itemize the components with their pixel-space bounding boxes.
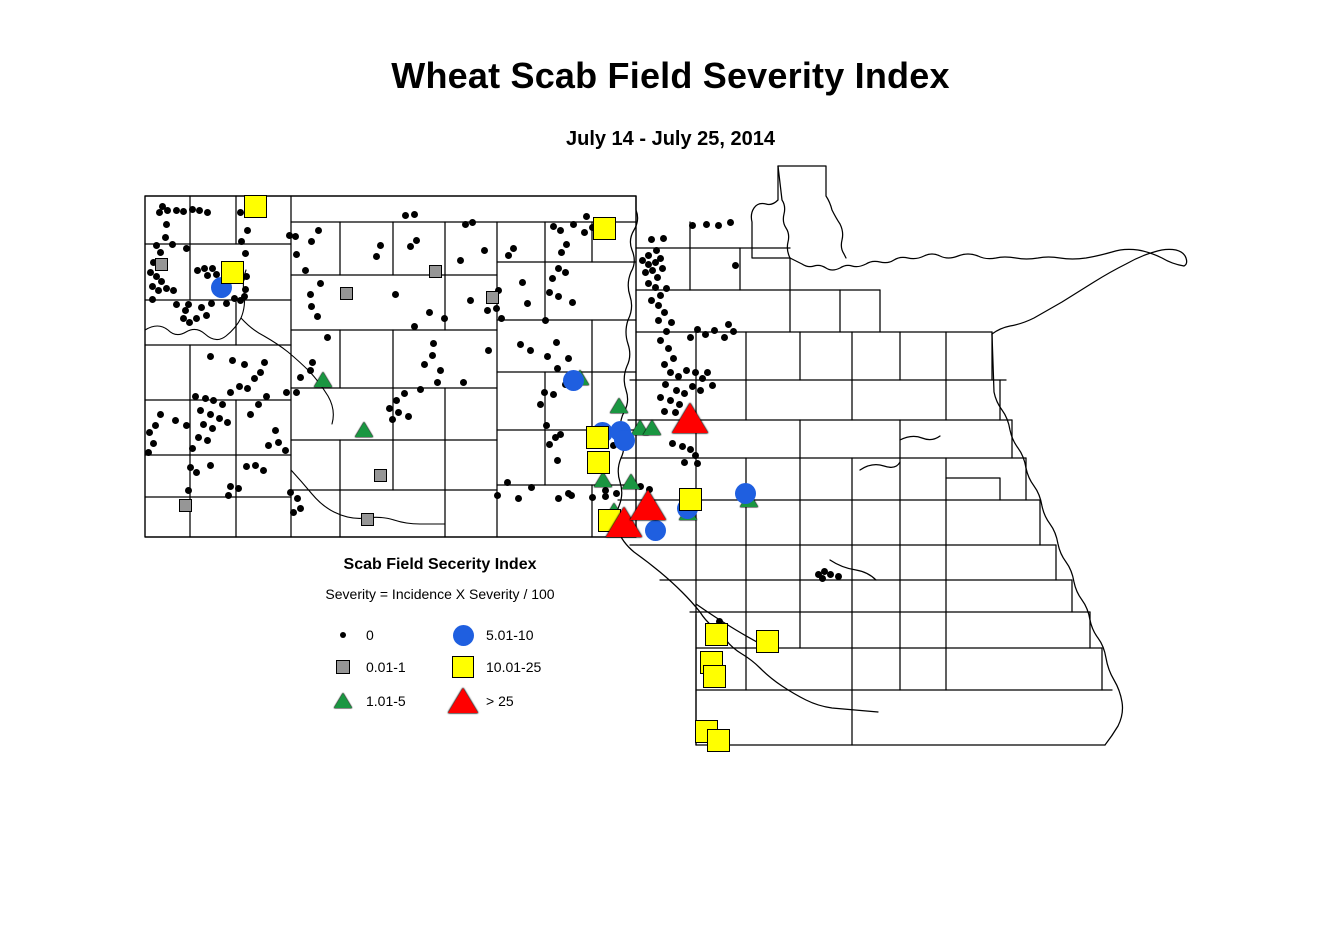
severity-0-dot bbox=[527, 347, 534, 354]
severity-0-dot bbox=[552, 434, 559, 441]
severity-0-dot bbox=[204, 209, 211, 216]
severity-0-dot bbox=[555, 265, 562, 272]
severity-0-dot bbox=[709, 382, 716, 389]
severity-0-dot bbox=[389, 416, 396, 423]
severity-0p01-1-square bbox=[486, 291, 499, 304]
severity-0p01-1-square bbox=[361, 513, 374, 526]
severity-0-dot bbox=[158, 278, 165, 285]
severity-0-dot bbox=[434, 379, 441, 386]
severity-0-dot bbox=[283, 389, 290, 396]
severity-0-dot bbox=[411, 211, 418, 218]
severity-0-dot bbox=[670, 355, 677, 362]
severity-0-dot bbox=[715, 222, 722, 229]
severity-0-dot bbox=[237, 209, 244, 216]
severity-0-dot bbox=[210, 397, 217, 404]
severity-0-dot bbox=[170, 287, 177, 294]
severity-0-dot bbox=[193, 315, 200, 322]
severity-0-dot bbox=[504, 479, 511, 486]
severity-over-25-triangle bbox=[630, 490, 666, 520]
severity-5p01-10-circle bbox=[645, 520, 666, 541]
severity-0-dot bbox=[655, 317, 662, 324]
severity-0-dot bbox=[681, 390, 688, 397]
severity-0-dot bbox=[201, 265, 208, 272]
severity-0p01-1-square bbox=[429, 265, 442, 278]
severity-0-dot bbox=[393, 397, 400, 404]
severity-0-dot bbox=[702, 331, 709, 338]
severity-0-dot bbox=[244, 385, 251, 392]
severity-0-dot bbox=[657, 292, 664, 299]
severity-0-dot bbox=[665, 345, 672, 352]
severity-0-dot bbox=[159, 203, 166, 210]
severity-0-dot bbox=[704, 369, 711, 376]
severity-0-dot bbox=[207, 411, 214, 418]
severity-0-dot bbox=[613, 490, 620, 497]
severity-0-dot bbox=[236, 383, 243, 390]
severity-0-dot bbox=[437, 367, 444, 374]
severity-1p01-5-triangle bbox=[622, 474, 640, 489]
severity-0-dot bbox=[402, 212, 409, 219]
severity-0-dot bbox=[216, 415, 223, 422]
severity-0-dot bbox=[694, 460, 701, 467]
severity-0-dot bbox=[558, 249, 565, 256]
severity-0-dot bbox=[510, 245, 517, 252]
severity-0-dot bbox=[546, 441, 553, 448]
severity-0-dot bbox=[163, 221, 170, 228]
severity-0-dot bbox=[189, 206, 196, 213]
severity-0-dot bbox=[392, 291, 399, 298]
severity-0-dot bbox=[150, 440, 157, 447]
severity-0-dot bbox=[265, 442, 272, 449]
severity-0-dot bbox=[681, 459, 688, 466]
severity-0-dot bbox=[417, 386, 424, 393]
severity-0-dot bbox=[602, 493, 609, 500]
severity-0-dot bbox=[204, 272, 211, 279]
severity-0-dot bbox=[457, 257, 464, 264]
severity-0-dot bbox=[238, 238, 245, 245]
severity-0-dot bbox=[307, 367, 314, 374]
severity-0-dot bbox=[315, 227, 322, 234]
legend-label: 0 bbox=[358, 627, 374, 643]
severity-0-dot bbox=[198, 304, 205, 311]
severity-0-dot bbox=[386, 405, 393, 412]
severity-0-dot bbox=[421, 361, 428, 368]
severity-0p01-1-square bbox=[155, 258, 168, 271]
severity-0-dot bbox=[462, 221, 469, 228]
legend-item-3[interactable]: 5.01-10 bbox=[448, 620, 533, 650]
severity-0-dot bbox=[292, 233, 299, 240]
legend-label: 1.01-5 bbox=[358, 693, 406, 709]
severity-5p01-10-circle bbox=[735, 483, 756, 504]
severity-1p01-5-triangle bbox=[643, 420, 661, 435]
severity-0-dot bbox=[528, 484, 535, 491]
severity-0-dot bbox=[180, 208, 187, 215]
severity-0-dot bbox=[207, 462, 214, 469]
legend-item-0[interactable]: 0 bbox=[328, 620, 374, 650]
severity-0-dot bbox=[654, 274, 661, 281]
severity-0-dot bbox=[699, 375, 706, 382]
severity-0-dot bbox=[565, 355, 572, 362]
severity-0-dot bbox=[661, 309, 668, 316]
severity-0-dot bbox=[243, 273, 250, 280]
severity-0-dot bbox=[711, 327, 718, 334]
severity-0-dot bbox=[308, 238, 315, 245]
severity-0-dot bbox=[653, 247, 660, 254]
severity-0-dot bbox=[257, 369, 264, 376]
severity-0-dot bbox=[493, 305, 500, 312]
severity-0-dot bbox=[241, 293, 248, 300]
severity-0-dot bbox=[467, 297, 474, 304]
severity-0-dot bbox=[662, 381, 669, 388]
severity-0-dot bbox=[659, 265, 666, 272]
severity-0-dot bbox=[555, 495, 562, 502]
severity-0-dot bbox=[645, 280, 652, 287]
legend-item-2[interactable]: 1.01-5 bbox=[328, 686, 406, 716]
severity-0-dot bbox=[494, 492, 501, 499]
severity-0-dot bbox=[163, 285, 170, 292]
severity-0-dot bbox=[553, 339, 560, 346]
severity-0-dot bbox=[324, 334, 331, 341]
severity-0-dot bbox=[524, 300, 531, 307]
severity-5p01-10-circle bbox=[563, 370, 584, 391]
severity-0-dot bbox=[293, 251, 300, 258]
severity-0-dot bbox=[169, 241, 176, 248]
severity-0-dot bbox=[290, 509, 297, 516]
severity-0-dot bbox=[430, 340, 437, 347]
severity-0-dot bbox=[307, 291, 314, 298]
severity-over-25-triangle bbox=[672, 403, 708, 433]
severity-0-dot bbox=[153, 242, 160, 249]
severity-0p01-1-square bbox=[374, 469, 387, 482]
severity-0-dot bbox=[209, 425, 216, 432]
small-black-dot-icon bbox=[328, 620, 358, 650]
legend-label: 10.01-25 bbox=[478, 659, 541, 675]
severity-0-dot bbox=[550, 223, 557, 230]
severity-0-dot bbox=[541, 389, 548, 396]
severity-0-dot bbox=[426, 309, 433, 316]
severity-0-dot bbox=[570, 221, 577, 228]
severity-0-dot bbox=[203, 312, 210, 319]
severity-0-dot bbox=[835, 573, 842, 580]
severity-0-dot bbox=[544, 353, 551, 360]
severity-10p01-25-square bbox=[244, 195, 267, 218]
severity-0-dot bbox=[645, 252, 652, 259]
severity-0-dot bbox=[196, 207, 203, 214]
severity-0-dot bbox=[183, 422, 190, 429]
severity-10p01-25-square bbox=[593, 217, 616, 240]
severity-0-dot bbox=[224, 419, 231, 426]
severity-0-dot bbox=[554, 365, 561, 372]
severity-0-dot bbox=[703, 221, 710, 228]
severity-0-dot bbox=[687, 446, 694, 453]
severity-0-dot bbox=[282, 447, 289, 454]
severity-0-dot bbox=[172, 417, 179, 424]
legend-formula: Severity = Incidence X Severity / 100 bbox=[306, 586, 574, 602]
severity-0-dot bbox=[732, 262, 739, 269]
severity-0-dot bbox=[185, 487, 192, 494]
severity-0-dot bbox=[235, 485, 242, 492]
severity-0-dot bbox=[223, 300, 230, 307]
severity-10p01-25-square bbox=[221, 261, 244, 284]
severity-0-dot bbox=[261, 359, 268, 366]
legend-label: 5.01-10 bbox=[478, 627, 533, 643]
severity-0-dot bbox=[669, 440, 676, 447]
severity-0-dot bbox=[649, 267, 656, 274]
severity-0-dot bbox=[730, 328, 737, 335]
severity-10p01-25-square bbox=[705, 623, 728, 646]
severity-0-dot bbox=[660, 235, 667, 242]
severity-0p01-1-square bbox=[340, 287, 353, 300]
severity-0-dot bbox=[668, 319, 675, 326]
severity-0-dot bbox=[583, 213, 590, 220]
severity-0-dot bbox=[815, 571, 822, 578]
severity-0-dot bbox=[725, 321, 732, 328]
severity-0-dot bbox=[180, 315, 187, 322]
severity-0-dot bbox=[411, 323, 418, 330]
severity-0-dot bbox=[200, 421, 207, 428]
severity-1p01-5-triangle bbox=[594, 472, 612, 487]
severity-0-dot bbox=[481, 247, 488, 254]
severity-0-dot bbox=[297, 374, 304, 381]
severity-10p01-25-square bbox=[703, 665, 726, 688]
severity-1p01-5-triangle bbox=[355, 422, 373, 437]
severity-0-dot bbox=[667, 369, 674, 376]
severity-0-dot bbox=[663, 285, 670, 292]
severity-0-dot bbox=[648, 297, 655, 304]
severity-0-dot bbox=[569, 299, 576, 306]
legend-label: 0.01-1 bbox=[358, 659, 406, 675]
legend-title: Scab Field Secerity Index bbox=[306, 556, 574, 574]
severity-1p01-5-triangle bbox=[610, 398, 628, 413]
severity-0-dot bbox=[302, 267, 309, 274]
severity-0-dot bbox=[145, 449, 152, 456]
map-page: Wheat Scab Field Severity Index July 14 … bbox=[0, 0, 1341, 926]
severity-0-dot bbox=[275, 439, 282, 446]
severity-0-dot bbox=[308, 303, 315, 310]
legend-label: > 25 bbox=[478, 693, 514, 709]
severity-0-dot bbox=[694, 326, 701, 333]
severity-0-dot bbox=[155, 287, 162, 294]
severity-0-dot bbox=[146, 429, 153, 436]
severity-0-dot bbox=[208, 300, 215, 307]
severity-0-dot bbox=[642, 269, 649, 276]
severity-0-dot bbox=[543, 422, 550, 429]
severity-0-dot bbox=[563, 241, 570, 248]
severity-0-dot bbox=[152, 422, 159, 429]
severity-0-dot bbox=[683, 367, 690, 374]
severity-0-dot bbox=[241, 361, 248, 368]
severity-0-dot bbox=[173, 207, 180, 214]
severity-0-dot bbox=[317, 280, 324, 287]
severity-0-dot bbox=[485, 347, 492, 354]
severity-0-dot bbox=[441, 315, 448, 322]
severity-0-dot bbox=[648, 236, 655, 243]
severity-0-dot bbox=[554, 457, 561, 464]
severity-0-dot bbox=[517, 341, 524, 348]
severity-0-dot bbox=[498, 315, 505, 322]
severity-0-dot bbox=[202, 395, 209, 402]
severity-0-dot bbox=[309, 359, 316, 366]
severity-0-dot bbox=[549, 275, 556, 282]
severity-0-dot bbox=[251, 375, 258, 382]
severity-0-dot bbox=[252, 462, 259, 469]
severity-0-dot bbox=[395, 409, 402, 416]
severity-5p01-10-circle bbox=[614, 430, 635, 451]
severity-0-dot bbox=[287, 489, 294, 496]
severity-0-dot bbox=[675, 373, 682, 380]
severity-0-dot bbox=[550, 391, 557, 398]
severity-0-dot bbox=[692, 369, 699, 376]
blue-circle-icon bbox=[448, 620, 478, 650]
severity-10p01-25-square bbox=[587, 451, 610, 474]
severity-0-dot bbox=[229, 357, 236, 364]
severity-0-dot bbox=[377, 242, 384, 249]
severity-0-dot bbox=[187, 464, 194, 471]
map-canvas bbox=[0, 0, 1341, 926]
severity-0-dot bbox=[193, 469, 200, 476]
severity-0-dot bbox=[469, 219, 476, 226]
severity-10p01-25-square bbox=[756, 630, 779, 653]
severity-0-dot bbox=[460, 379, 467, 386]
severity-0-dot bbox=[219, 401, 226, 408]
severity-0-dot bbox=[195, 434, 202, 441]
severity-0-dot bbox=[255, 401, 262, 408]
severity-0-dot bbox=[657, 255, 664, 262]
severity-0-dot bbox=[185, 301, 192, 308]
severity-0-dot bbox=[197, 407, 204, 414]
legend-item-5[interactable]: > 25 bbox=[448, 686, 514, 716]
severity-0-dot bbox=[186, 319, 193, 326]
severity-0-dot bbox=[157, 249, 164, 256]
severity-0-dot bbox=[247, 411, 254, 418]
severity-0-dot bbox=[568, 492, 575, 499]
severity-0-dot bbox=[657, 337, 664, 344]
severity-0-dot bbox=[827, 571, 834, 578]
severity-0-dot bbox=[589, 494, 596, 501]
severity-0-dot bbox=[227, 483, 234, 490]
severity-0-dot bbox=[661, 361, 668, 368]
severity-0-dot bbox=[562, 269, 569, 276]
severity-0-dot bbox=[727, 219, 734, 226]
severity-0-dot bbox=[157, 411, 164, 418]
severity-0-dot bbox=[655, 302, 662, 309]
severity-0-dot bbox=[519, 279, 526, 286]
severity-0-dot bbox=[244, 227, 251, 234]
severity-10p01-25-square bbox=[679, 488, 702, 511]
severity-0-dot bbox=[652, 284, 659, 291]
severity-0-dot bbox=[661, 408, 668, 415]
red-triangle-icon bbox=[448, 686, 478, 716]
severity-0-dot bbox=[581, 229, 588, 236]
severity-0-dot bbox=[189, 445, 196, 452]
green-triangle-icon bbox=[328, 686, 358, 716]
severity-0-dot bbox=[505, 252, 512, 259]
severity-0-dot bbox=[657, 394, 664, 401]
severity-marker-layer bbox=[0, 0, 1341, 926]
severity-0-dot bbox=[555, 293, 562, 300]
severity-0-dot bbox=[537, 401, 544, 408]
severity-0-dot bbox=[679, 443, 686, 450]
severity-0-dot bbox=[721, 334, 728, 341]
legend-item-1[interactable]: 0.01-1 bbox=[328, 652, 406, 682]
severity-0-dot bbox=[173, 301, 180, 308]
severity-10p01-25-square bbox=[707, 729, 730, 752]
severity-0-dot bbox=[272, 427, 279, 434]
severity-0-dot bbox=[687, 334, 694, 341]
severity-0-dot bbox=[373, 253, 380, 260]
legend-item-4[interactable]: 10.01-25 bbox=[448, 652, 541, 682]
severity-0-dot bbox=[242, 286, 249, 293]
severity-0-dot bbox=[413, 237, 420, 244]
severity-0-dot bbox=[546, 289, 553, 296]
severity-0-dot bbox=[260, 467, 267, 474]
severity-0-dot bbox=[515, 495, 522, 502]
yellow-square-icon bbox=[448, 652, 478, 682]
severity-10p01-25-square bbox=[586, 426, 609, 449]
severity-0-dot bbox=[297, 505, 304, 512]
severity-0-dot bbox=[314, 313, 321, 320]
severity-0-dot bbox=[225, 492, 232, 499]
severity-0-dot bbox=[227, 389, 234, 396]
severity-0-dot bbox=[697, 387, 704, 394]
severity-0-dot bbox=[692, 452, 699, 459]
severity-0-dot bbox=[429, 352, 436, 359]
severity-0-dot bbox=[294, 495, 301, 502]
severity-0-dot bbox=[673, 387, 680, 394]
severity-0-dot bbox=[156, 209, 163, 216]
severity-0-dot bbox=[401, 390, 408, 397]
severity-0-dot bbox=[557, 227, 564, 234]
severity-0-dot bbox=[183, 245, 190, 252]
severity-0-dot bbox=[204, 437, 211, 444]
severity-0-dot bbox=[542, 317, 549, 324]
severity-0-dot bbox=[243, 463, 250, 470]
severity-0-dot bbox=[405, 413, 412, 420]
severity-0-dot bbox=[182, 307, 189, 314]
severity-0-dot bbox=[149, 296, 156, 303]
severity-0-dot bbox=[293, 389, 300, 396]
severity-1p01-5-triangle bbox=[314, 372, 332, 387]
legend: Scab Field Secerity Index Severity = Inc… bbox=[306, 556, 574, 716]
severity-0-dot bbox=[407, 243, 414, 250]
severity-0-dot bbox=[263, 393, 270, 400]
severity-0-dot bbox=[663, 328, 670, 335]
severity-0-dot bbox=[689, 222, 696, 229]
severity-0-dot bbox=[194, 267, 201, 274]
severity-0-dot bbox=[484, 307, 491, 314]
severity-0p01-1-square bbox=[179, 499, 192, 512]
severity-0-dot bbox=[207, 353, 214, 360]
severity-0-dot bbox=[242, 250, 249, 257]
severity-0-dot bbox=[162, 234, 169, 241]
severity-0-dot bbox=[689, 383, 696, 390]
gray-square-icon bbox=[328, 652, 358, 682]
severity-0-dot bbox=[192, 393, 199, 400]
